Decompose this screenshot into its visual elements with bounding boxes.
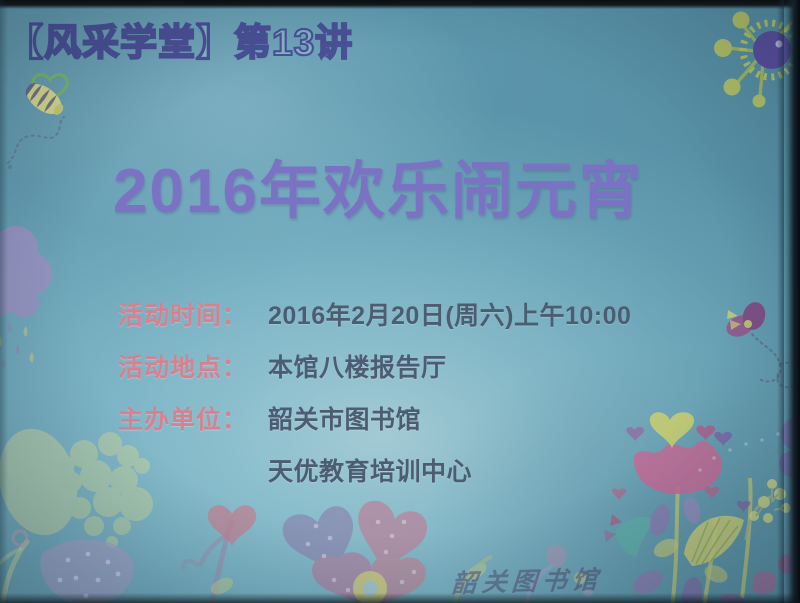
info-value-organizer: 韶关市图书馆 bbox=[258, 400, 421, 436]
info-label-organizer: 主办单位： bbox=[118, 400, 258, 436]
info-value-location: 本馆八楼报告厅 bbox=[258, 348, 447, 384]
photo-edge-left bbox=[0, 0, 8, 603]
poster-info-block: 活动时间： 2016年2月20日(周六)上午10:00 活动地点： 本馆八楼报告… bbox=[118, 296, 758, 504]
photo-edge-top bbox=[0, 0, 800, 9]
info-value-organizer-second: 天优教育培训中心 bbox=[258, 452, 472, 488]
photo-edge-right bbox=[784, 0, 800, 603]
poster-header: 【风采学堂】第13讲 bbox=[6, 12, 353, 66]
info-value-time: 2016年2月20日(周六)上午10:00 bbox=[258, 296, 631, 332]
info-label-location: 活动地点： bbox=[118, 348, 258, 384]
photo-edge-right-inner bbox=[777, 0, 784, 603]
info-label-time: 活动时间： bbox=[118, 296, 258, 332]
info-row-organizer: 主办单位： 韶关市图书馆 bbox=[118, 400, 758, 436]
poster-title: 2016年欢乐闹元宵 bbox=[113, 140, 643, 230]
poster-image: 【风采学堂】第13讲 2016年欢乐闹元宵 活动时间： 2016年2月20日(周… bbox=[0, 0, 800, 603]
info-row-organizer-second: 活动时间： 天优教育培训中心 bbox=[118, 452, 758, 488]
info-row-time: 活动时间： 2016年2月20日(周六)上午10:00 bbox=[118, 296, 758, 332]
info-row-location: 活动地点： 本馆八楼报告厅 bbox=[118, 348, 758, 384]
photo-edge-bottom bbox=[0, 593, 800, 603]
